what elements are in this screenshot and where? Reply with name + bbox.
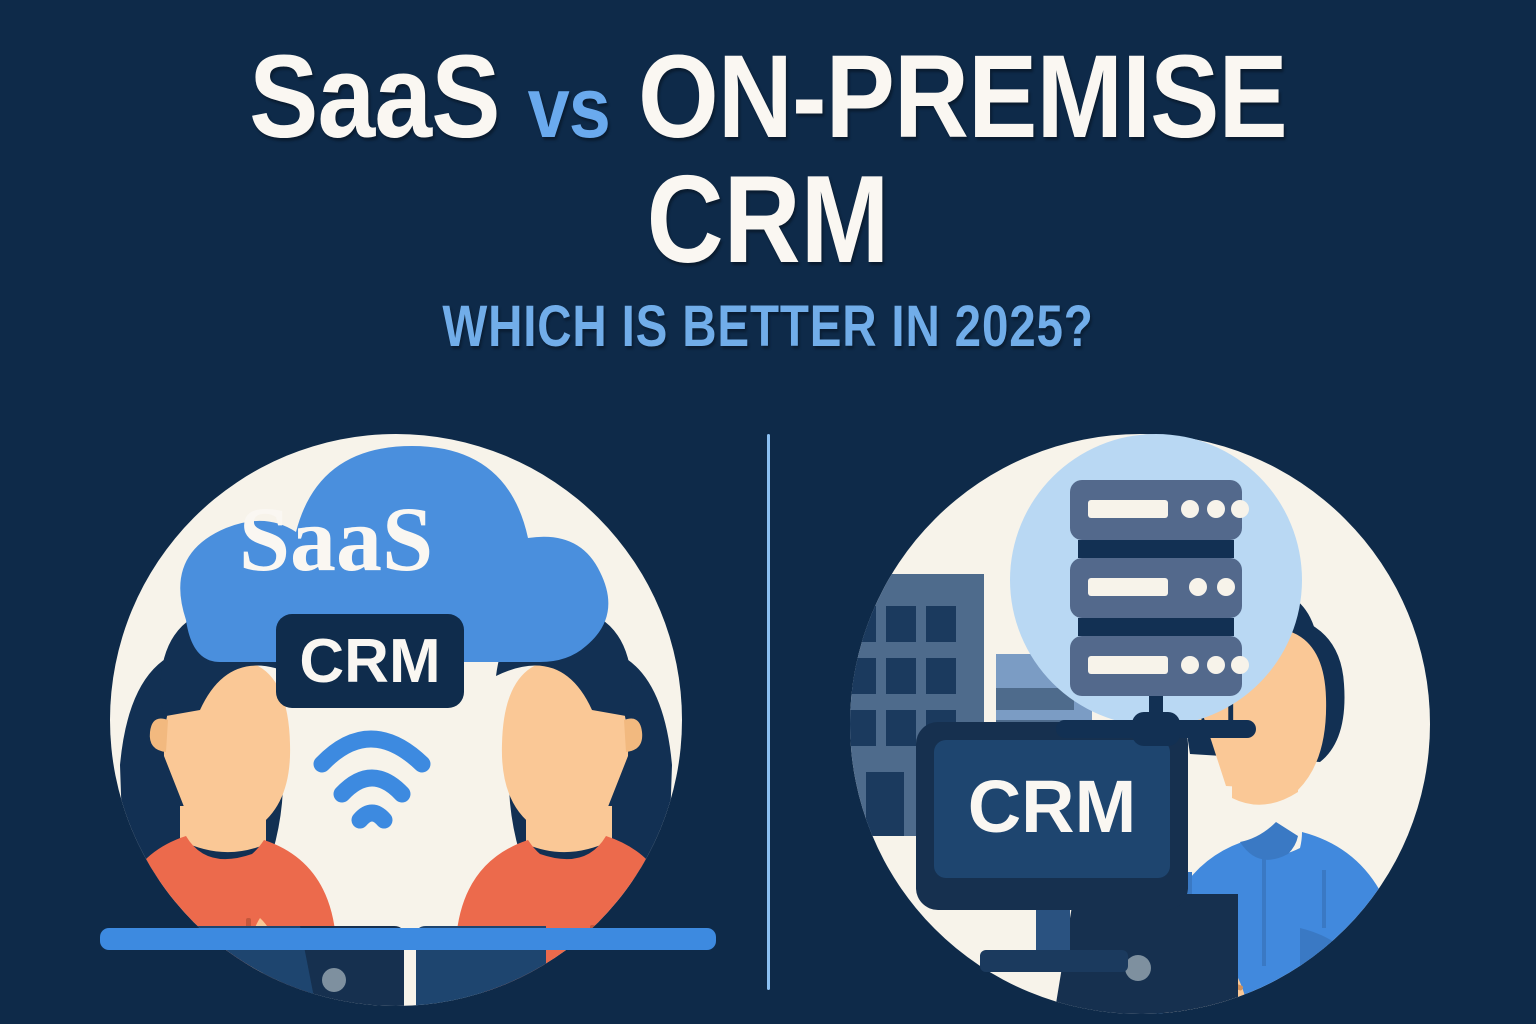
neck	[1232, 752, 1298, 805]
neck	[180, 806, 266, 852]
laptop-logo	[322, 968, 346, 992]
saas-panel: SaaS CRM	[60, 420, 760, 1024]
laptop-logo	[1125, 955, 1151, 981]
page-title-line-2: CRM	[108, 158, 1429, 282]
cloud-label: SaaS	[239, 488, 433, 590]
title-vs: vs	[528, 60, 610, 156]
page-subtitle: WHICH IS BETTER IN 2025?	[138, 298, 1398, 356]
crease-2	[1322, 870, 1326, 928]
poster-canvas: SaaS vs ON-PREMISE CRM WHICH IS BETTER I…	[0, 0, 1536, 1024]
on-premise-panel: L	[800, 420, 1500, 1024]
page-title-line-1: SaaS vs ON-PREMISE	[92, 38, 1444, 156]
vertical-divider	[767, 434, 770, 990]
on-premise-illustration-svg: L	[800, 420, 1500, 1024]
neck	[526, 806, 612, 852]
saas-illustration-svg: SaaS CRM	[60, 420, 760, 1024]
title-on-premise: ON-PREMISE	[638, 31, 1287, 163]
monitor-label: CRM	[968, 765, 1137, 848]
crm-badge-label: CRM	[299, 627, 440, 696]
desk-bar	[100, 928, 716, 950]
poster-header: SaaS vs ON-PREMISE CRM WHICH IS BETTER I…	[0, 0, 1536, 356]
sleeve-crease-2	[560, 973, 618, 978]
title-saas: SaaS	[249, 31, 500, 163]
shirt-placket	[1262, 836, 1266, 966]
